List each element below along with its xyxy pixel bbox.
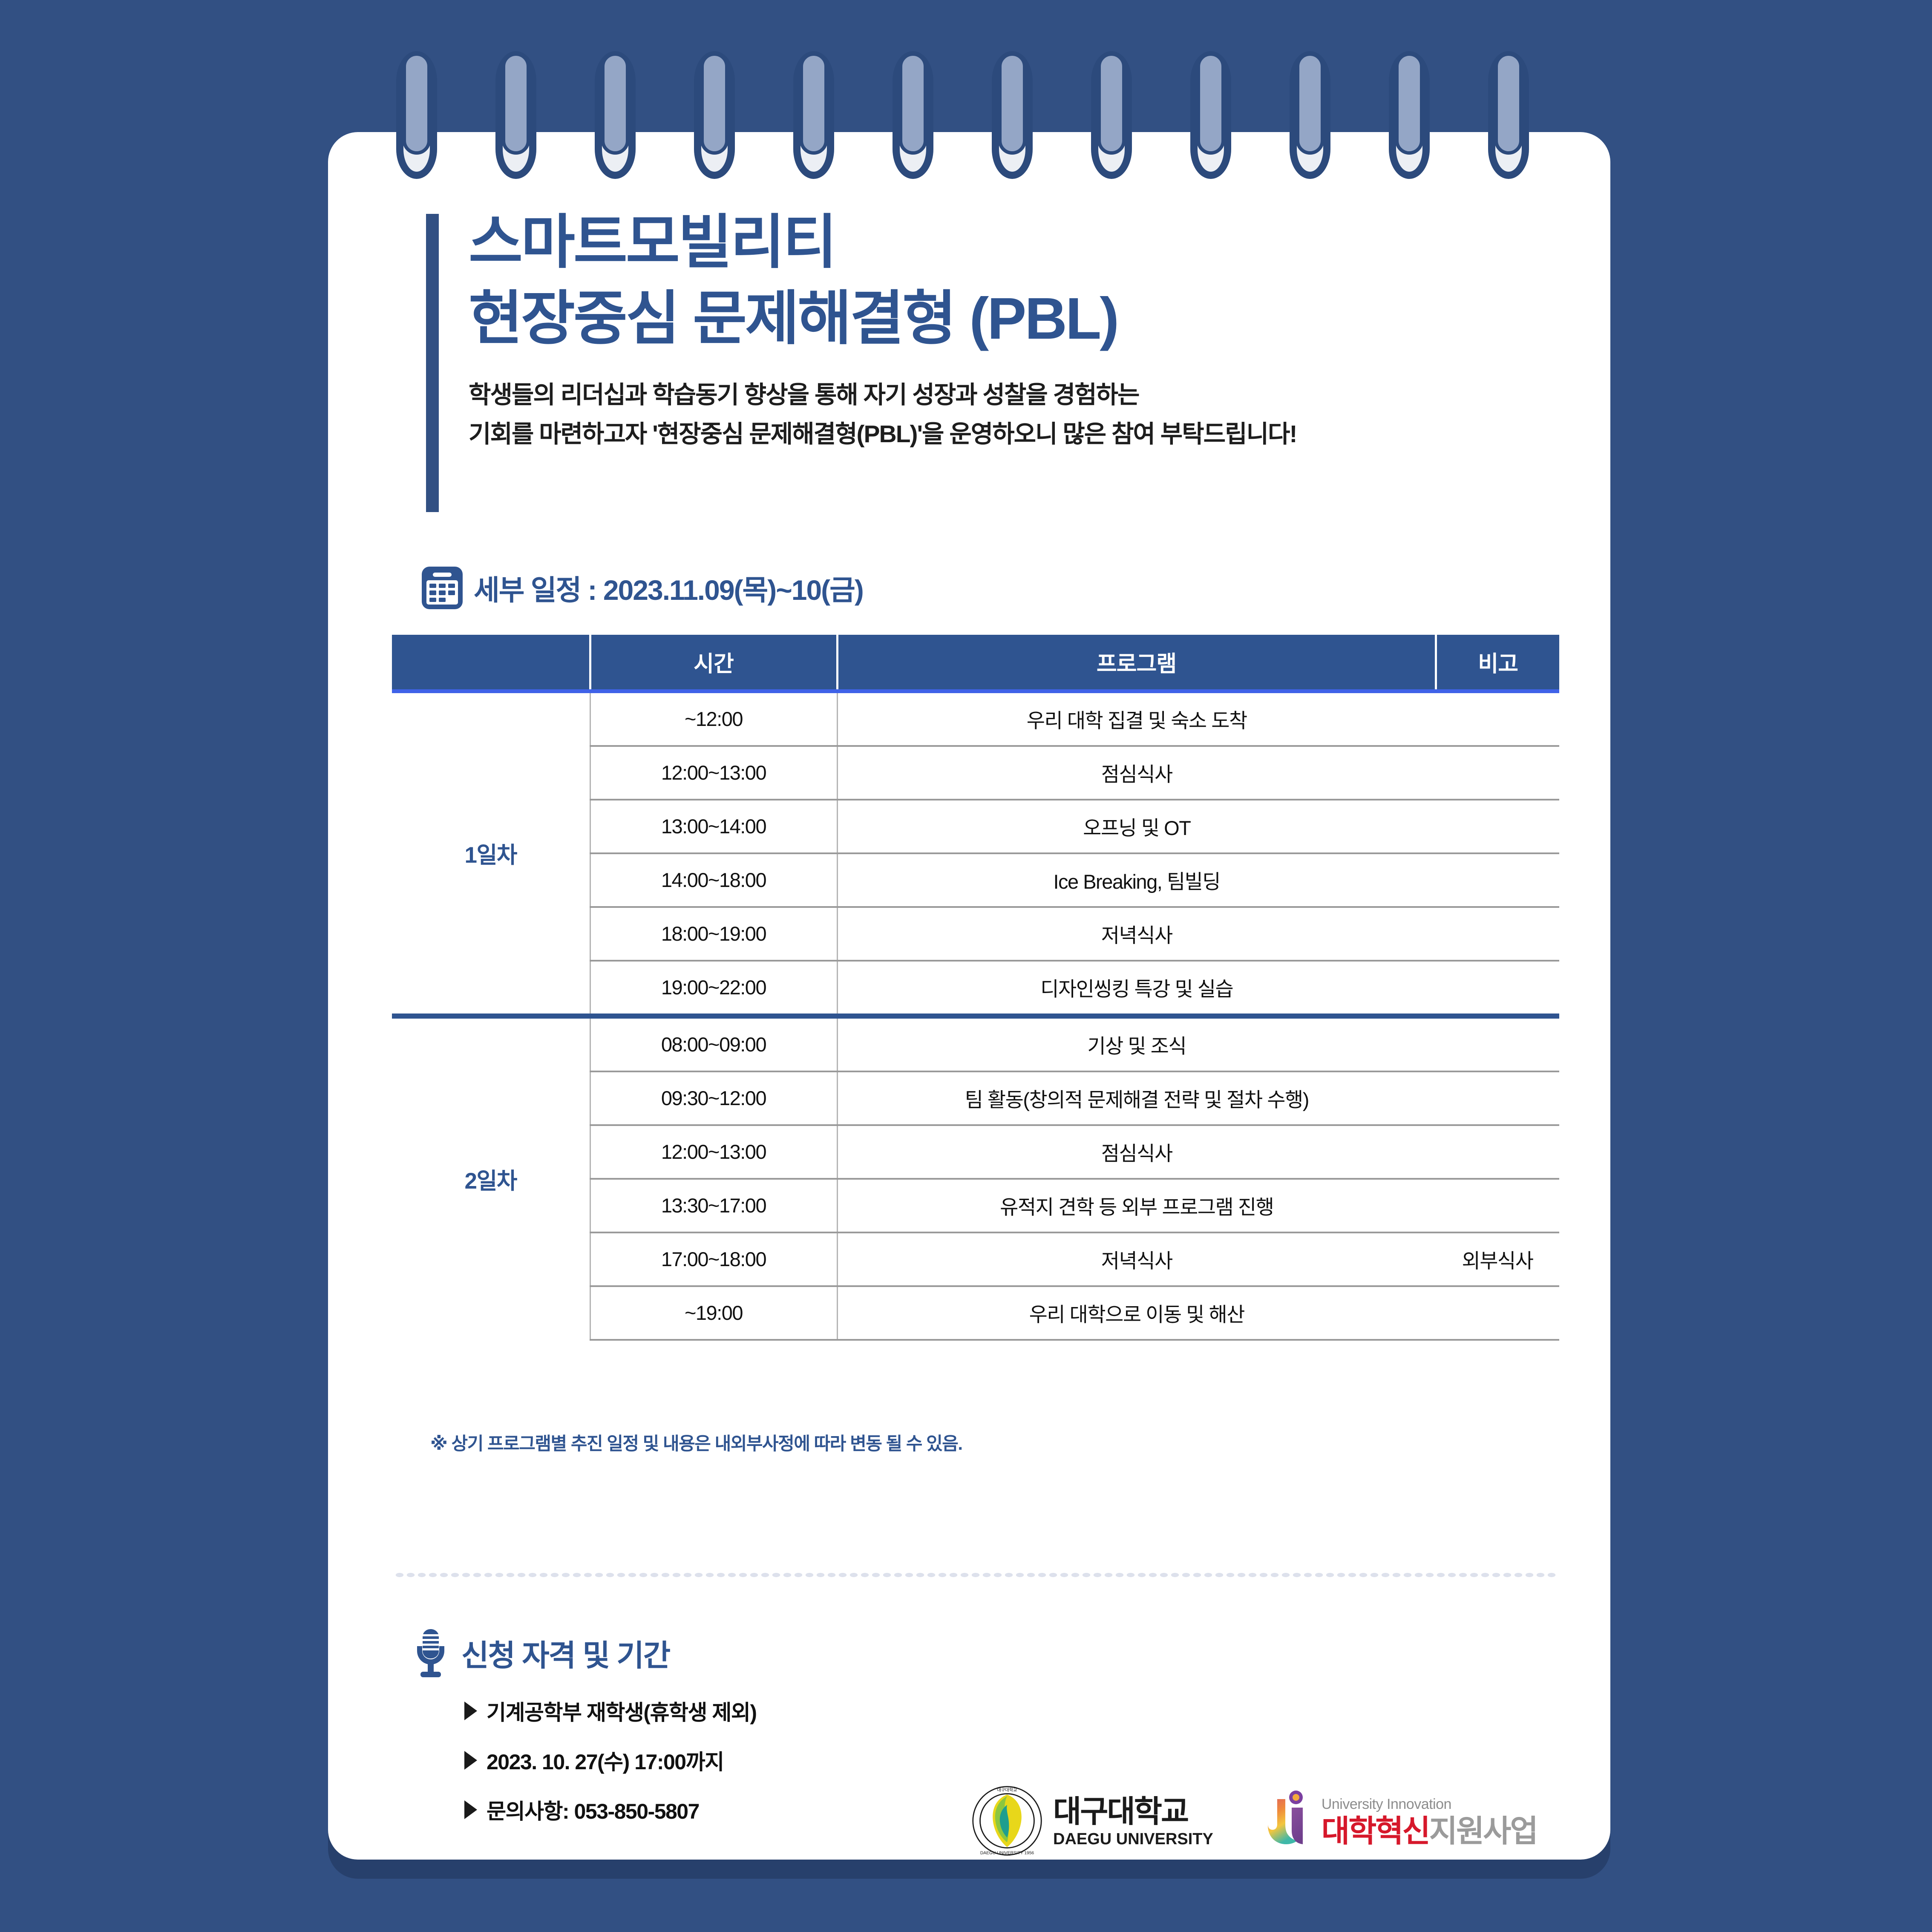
cell-time: 12:00~13:00	[590, 746, 837, 800]
poster-root: 스마트모빌리티 현장중심 문제해결형 (PBL) 학생들의 리더십과 학습동기 …	[0, 0, 1932, 1932]
schedule-heading-label: 세부 일정 : 2023.11.09(목)~10(금)	[474, 567, 863, 608]
cell-time: 08:00~09:00	[590, 1016, 837, 1071]
cell-program: 디자인씽킹 특강 및 실습	[837, 961, 1436, 1016]
svg-text:대구대학교: 대구대학교	[997, 1788, 1017, 1793]
spiral-ring	[1389, 51, 1430, 179]
table-body: 1일차~12:00우리 대학 집결 및 숙소 도착12:00~13:00점심식사…	[392, 691, 1559, 1340]
title-accent-bar	[426, 214, 439, 512]
spiral-ring	[1091, 51, 1132, 179]
cell-time: 18:00~19:00	[590, 907, 837, 961]
spiral-ring	[1488, 51, 1529, 179]
spiral-ring	[694, 51, 735, 179]
table-row: 1일차~12:00우리 대학 집결 및 숙소 도착	[392, 691, 1559, 746]
cell-time: 13:00~14:00	[590, 800, 837, 853]
spiral-ring	[495, 51, 536, 179]
svg-text:DAEGU UNIVERSITY 1956: DAEGU UNIVERSITY 1956	[980, 1851, 1034, 1855]
spiral-ring	[893, 51, 933, 179]
cell-program: 오프닝 및 OT	[837, 800, 1436, 853]
spiral-ring	[1290, 51, 1330, 179]
daegu-university-emblem: 대구대학교 DAEGU UNIVERSITY 1956	[971, 1785, 1043, 1859]
schedule-table: 시간 프로그램 비고 1일차~12:00우리 대학 집결 및 숙소 도착12:0…	[392, 635, 1559, 1341]
university-innovation-name-red: 대학혁신	[1322, 1814, 1429, 1849]
university-innovation-u-mark	[1260, 1789, 1311, 1855]
cell-program: 저녁식사	[837, 1232, 1436, 1286]
cell-note	[1436, 1125, 1559, 1179]
cell-note	[1436, 907, 1559, 961]
table-row: 2일차08:00~09:00기상 및 조식	[392, 1016, 1559, 1071]
day-label-cell: 2일차	[392, 1016, 590, 1340]
university-innovation-name-gray: 지원사업	[1429, 1814, 1537, 1849]
apply-list-item: 문의사항: 053-850-5807	[464, 1794, 757, 1825]
cell-program: 점심식사	[837, 746, 1436, 800]
column-header-program: 프로그램	[837, 635, 1436, 691]
microphone-icon	[411, 1627, 450, 1679]
page-title-line2: 현장중심 문제해결형 (PBL)	[469, 281, 1576, 357]
apply-heading-label: 신청 자격 및 기간	[461, 1632, 670, 1675]
day-label-cell: 1일차	[392, 691, 590, 1016]
cell-time: 19:00~22:00	[590, 961, 837, 1016]
cell-program: 저녁식사	[837, 907, 1436, 961]
column-header-day	[392, 635, 590, 691]
spiral-ring	[1190, 51, 1231, 179]
daegu-university-name-en: DAEGU UNIVERSITY	[1053, 1831, 1213, 1847]
subtitle-line2: 기회를 마련하고자 '현장중심 문제해결형(PBL)'을 운영하오니 많은 참여…	[469, 415, 1576, 454]
spiral-ring	[793, 51, 834, 179]
university-innovation-logo: University Innovation 대학혁신지원사업	[1260, 1789, 1537, 1855]
spiral-ring	[992, 51, 1033, 179]
apply-list-item-label: 문의사항: 053-850-5807	[487, 1794, 699, 1825]
table-head: 시간 프로그램 비고	[392, 635, 1559, 691]
section-divider	[394, 1572, 1557, 1578]
apply-list-item-label: 기계공학부 재학생(휴학생 제외)	[487, 1696, 757, 1726]
cell-time: ~19:00	[590, 1286, 837, 1340]
apply-list-item: 기계공학부 재학생(휴학생 제외)	[464, 1696, 757, 1726]
triangle-bullet-icon	[464, 1702, 477, 1720]
cell-program: 우리 대학 집결 및 숙소 도착	[837, 691, 1436, 746]
cell-program: 팀 활동(창의적 문제해결 전략 및 절차 수행)	[837, 1071, 1436, 1125]
schedule-heading: 세부 일정 : 2023.11.09(목)~10(금)	[422, 567, 863, 609]
schedule-footnote: ※ 상기 프로그램별 추진 일정 및 내용은 내외부사정에 따라 변동 될 수 …	[430, 1429, 962, 1455]
table-header-row: 시간 프로그램 비고	[392, 635, 1559, 691]
cell-time: ~12:00	[590, 691, 837, 746]
cell-note	[1436, 1286, 1559, 1340]
spiral-binding	[328, 51, 1610, 187]
cell-program: 기상 및 조식	[837, 1016, 1436, 1071]
triangle-bullet-icon	[464, 1800, 477, 1819]
daegu-university-logo: 대구대학교 DAEGU UNIVERSITY 1956 대구대학교 DAEGU …	[971, 1785, 1213, 1859]
cell-note	[1436, 746, 1559, 800]
column-header-note: 비고	[1436, 635, 1559, 691]
daegu-university-name-ko: 대구대학교	[1053, 1797, 1213, 1827]
cell-program: 점심식사	[837, 1125, 1436, 1179]
cell-note	[1436, 961, 1559, 1016]
cell-program: 유적지 견학 등 외부 프로그램 진행	[837, 1179, 1436, 1232]
apply-list: 기계공학부 재학생(휴학생 제외)2023. 10. 27(수) 17:00까지…	[464, 1696, 757, 1844]
spiral-ring	[595, 51, 636, 179]
cell-note	[1436, 800, 1559, 853]
cell-time: 13:30~17:00	[590, 1179, 837, 1232]
university-innovation-tagline: University Innovation	[1322, 1797, 1537, 1811]
title-block: 스마트모빌리티 현장중심 문제해결형 (PBL) 학생들의 리더십과 학습동기 …	[426, 204, 1576, 454]
apply-list-item: 2023. 10. 27(수) 17:00까지	[464, 1745, 757, 1776]
page-title-line1: 스마트모빌리티	[469, 204, 1576, 281]
spiral-ring	[396, 51, 437, 179]
cell-program: Ice Breaking, 팀빌딩	[837, 853, 1436, 907]
cell-time: 09:30~12:00	[590, 1071, 837, 1125]
apply-heading: 신청 자격 및 기간	[411, 1627, 670, 1679]
cell-program: 우리 대학으로 이동 및 해산	[837, 1286, 1436, 1340]
cell-note	[1436, 691, 1559, 746]
subtitle-line1: 학생들의 리더십과 학습동기 향상을 통해 자기 성장과 성찰을 경험하는	[469, 375, 1576, 415]
cell-note	[1436, 1071, 1559, 1125]
cell-note	[1436, 1179, 1559, 1232]
apply-list-item-label: 2023. 10. 27(수) 17:00까지	[487, 1745, 724, 1776]
cell-time: 17:00~18:00	[590, 1232, 837, 1286]
cell-time: 14:00~18:00	[590, 853, 837, 907]
cell-note	[1436, 853, 1559, 907]
logo-row: 대구대학교 DAEGU UNIVERSITY 1956 대구대학교 DAEGU …	[971, 1785, 1537, 1859]
column-header-time: 시간	[590, 635, 837, 691]
cell-note: 외부식사	[1436, 1232, 1559, 1286]
calendar-icon	[422, 567, 463, 609]
cell-time: 12:00~13:00	[590, 1125, 837, 1179]
triangle-bullet-icon	[464, 1751, 477, 1770]
cell-note	[1436, 1016, 1559, 1071]
